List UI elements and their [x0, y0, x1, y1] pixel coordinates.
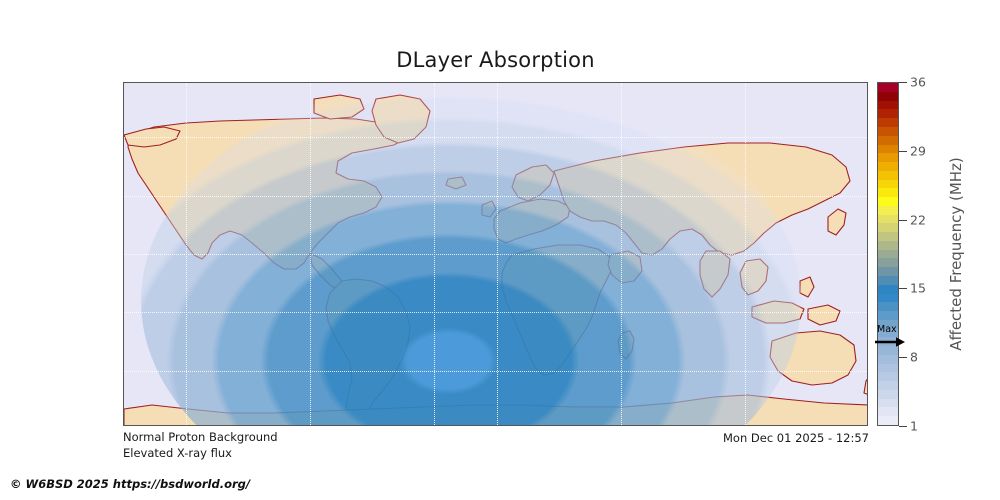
world-map [124, 83, 868, 426]
colorbar-band-0 [878, 416, 898, 425]
colorbar-band-1 [878, 407, 898, 416]
colorbar[interactable]: 1815222936 [877, 82, 899, 426]
colorbar-tick-22 [899, 220, 907, 221]
colorbar-band-37 [878, 92, 898, 101]
colorbar-band-3 [878, 390, 898, 399]
colorbar-band-27 [878, 180, 898, 189]
colorbar-ticklabel-8: 8 [910, 350, 918, 365]
colorbar-band-17 [878, 267, 898, 276]
colorbar-tick-15 [899, 288, 907, 289]
copyright-notice: © W6BSD 2025 https://bsdworld.org/ [10, 477, 250, 491]
colorbar-band-6 [878, 364, 898, 373]
colorbar-band-30 [878, 153, 898, 162]
colorbar-ticklabel-36: 36 [910, 75, 926, 90]
colorbar-band-12 [878, 311, 898, 320]
colorbar-band-31 [878, 145, 898, 154]
colorbar-band-38 [878, 83, 898, 92]
colorbar-tick-1 [899, 426, 907, 427]
colorbar-gradient [877, 82, 899, 426]
colorbar-band-13 [878, 302, 898, 311]
colorbar-band-20 [878, 241, 898, 250]
colorbar-band-26 [878, 188, 898, 197]
colorbar-label-text: Affected Frequency (MHz) [947, 157, 965, 351]
colorbar-band-23 [878, 215, 898, 224]
figure-canvas: DLayer Absorption [0, 0, 1000, 500]
note-xray-flux: Elevated X-ray flux [123, 446, 232, 460]
colorbar-band-29 [878, 162, 898, 171]
colorbar-band-11 [878, 320, 898, 329]
colorbar-band-28 [878, 171, 898, 180]
colorbar-band-24 [878, 206, 898, 215]
colorbar-band-21 [878, 232, 898, 241]
page-title: DLayer Absorption [123, 48, 868, 72]
colorbar-ticklabel-22: 22 [910, 212, 926, 227]
colorbar-band-10 [878, 329, 898, 338]
colorbar-band-35 [878, 109, 898, 118]
colorbar-band-22 [878, 223, 898, 232]
colorbar-band-15 [878, 285, 898, 294]
colorbar-tick-36 [899, 82, 907, 83]
colorbar-band-7 [878, 355, 898, 364]
colorbar-band-34 [878, 118, 898, 127]
colorbar-band-18 [878, 258, 898, 267]
colorbar-tick-8 [899, 357, 907, 358]
colorbar-axis-label: Affected Frequency (MHz) [944, 82, 968, 426]
colorbar-band-4 [878, 381, 898, 390]
colorbar-band-9 [878, 337, 898, 346]
colorbar-band-16 [878, 276, 898, 285]
colorbar-band-5 [878, 372, 898, 381]
colorbar-band-25 [878, 197, 898, 206]
timestamp-label: Mon Dec 01 2025 - 12:57 [723, 431, 869, 445]
colorbar-band-36 [878, 101, 898, 110]
colorbar-band-8 [878, 346, 898, 355]
colorbar-band-2 [878, 399, 898, 408]
colorbar-band-32 [878, 136, 898, 145]
note-proton-background: Normal Proton Background [123, 430, 278, 444]
colorbar-band-19 [878, 250, 898, 259]
colorbar-ticklabel-1: 1 [910, 419, 918, 434]
map-plot-area[interactable] [123, 82, 868, 426]
colorbar-ticklabel-29: 29 [910, 143, 926, 158]
colorbar-band-14 [878, 294, 898, 303]
colorbar-band-33 [878, 127, 898, 136]
colorbar-tick-29 [899, 151, 907, 152]
colorbar-ticklabel-15: 15 [910, 281, 926, 296]
